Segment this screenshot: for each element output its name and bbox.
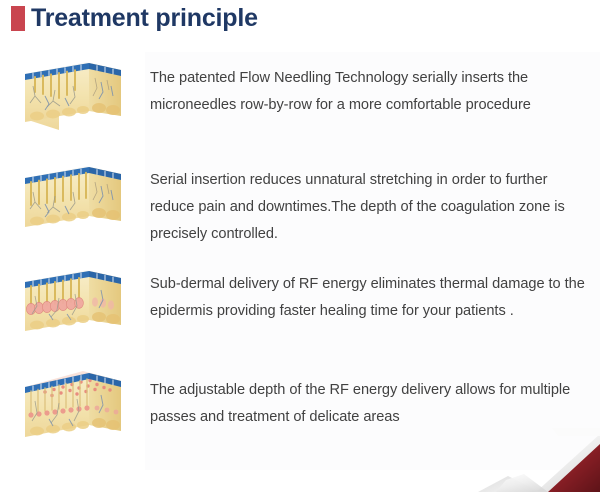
page-title: Treatment principle [11,6,258,31]
skin-cross-section-coagulation-zones-icon [15,262,130,348]
content-row-text: Sub-dermal delivery of RF energy elimina… [150,271,590,325]
slide-root: Treatment principle [0,0,600,492]
content-row: The patented Flow Needling Technology se… [0,56,600,148]
title-marker-square [11,6,25,31]
content-row: Sub-dermal delivery of RF energy elimina… [0,262,600,358]
page-title-text: Treatment principle [31,6,258,31]
content-row-text: The patented Flow Needling Technology se… [150,65,590,119]
content-row-text: The adjustable depth of the RF energy de… [150,377,590,431]
content-row: Serial insertion reduces unnatural stret… [0,158,600,254]
skin-cross-section-multiple-passes-icon [15,363,130,455]
content-row-text: Serial insertion reduces unnatural stret… [150,167,590,248]
skin-cross-section-partial-needle-row-icon [15,56,130,138]
skin-cross-section-full-needle-row-icon [15,158,130,244]
content-row: The adjustable depth of the RF energy de… [0,363,600,465]
